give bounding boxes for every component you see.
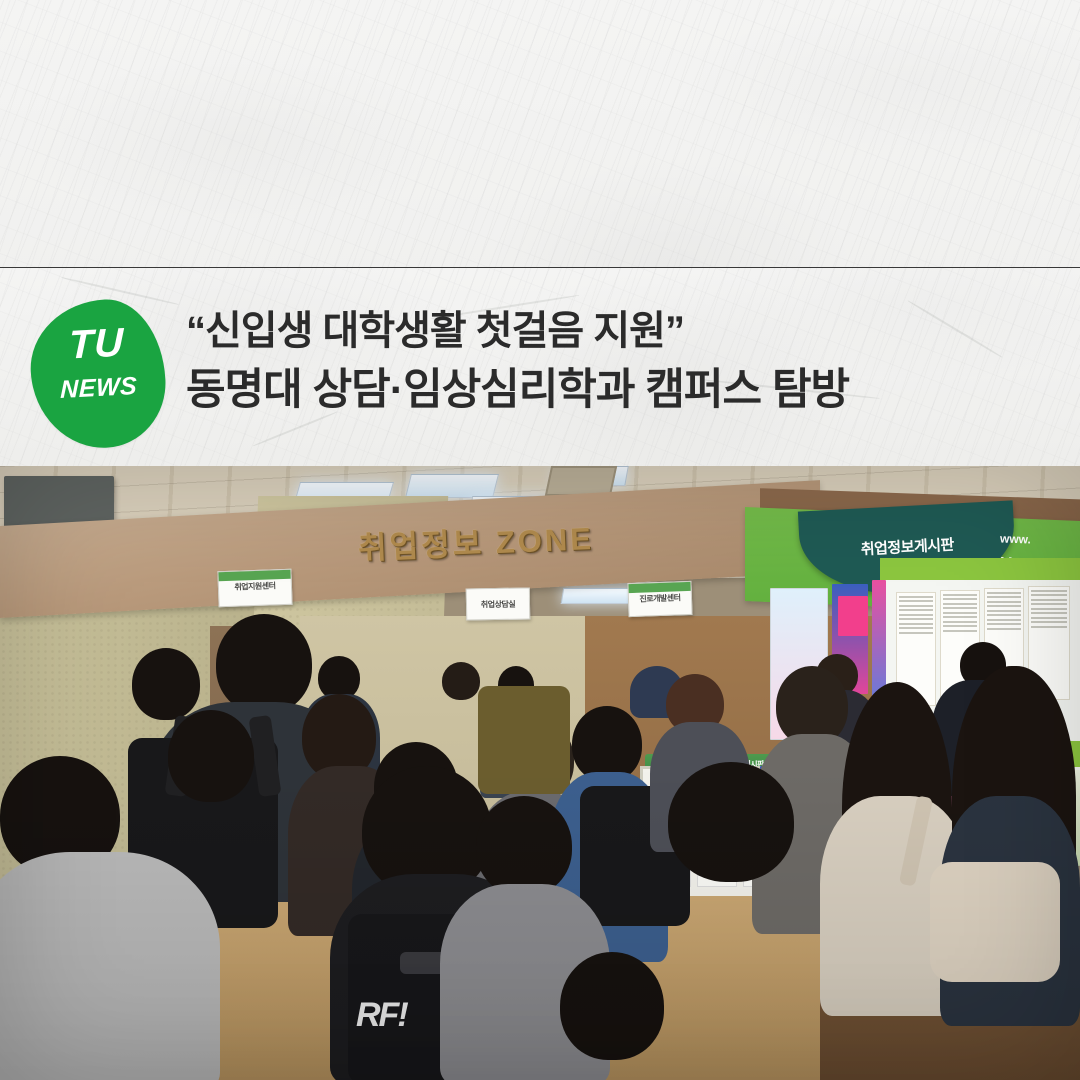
logo-text-tu: TU <box>29 318 164 370</box>
headline-line-2: 동명대 상담·임상심리학과 캠퍼스 탐방 <box>186 363 1046 417</box>
news-photo: 취업정보게시판 취업정보 ZONE 취업지원센터 취업상담실 진로개발센터 취업… <box>0 466 1080 1080</box>
photo-vignette <box>0 466 1080 1080</box>
news-card: TU NEWS “신입생 대학생활 첫걸음 지원” 동명대 상담·임상심리학과 … <box>0 0 1080 1080</box>
headline-block: “신입생 대학생활 첫걸음 지원” 동명대 상담·임상심리학과 캠퍼스 탐방 <box>186 306 1046 418</box>
headline-line-1: “신입생 대학생활 첫걸음 지원” <box>186 306 1046 356</box>
logo-text-news: NEWS <box>32 370 166 406</box>
